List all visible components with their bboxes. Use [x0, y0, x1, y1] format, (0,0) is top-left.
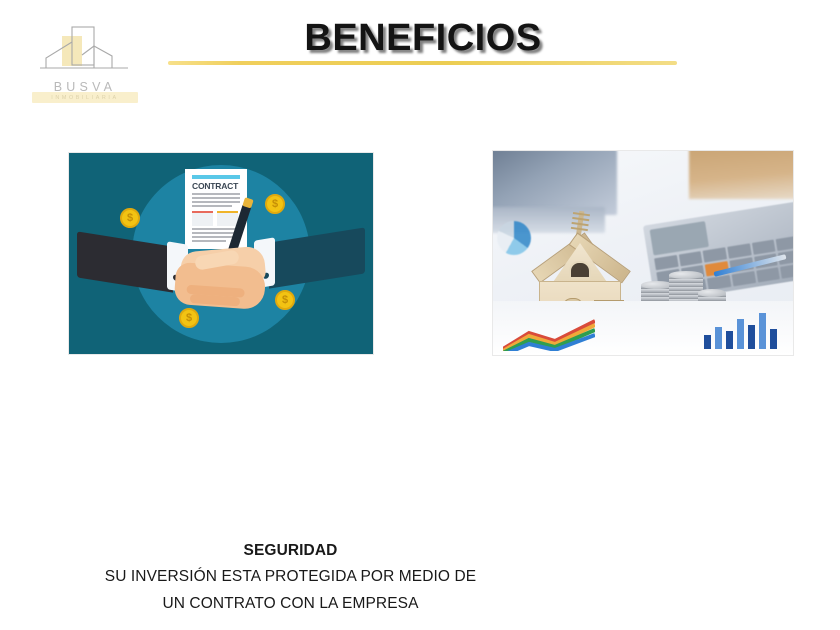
calculator-key	[703, 247, 727, 262]
slide-canvas: BUSVA INMOBILIARIA BENEFICIOS $ $ $ $ CO…	[0, 0, 840, 630]
line-chart-graphic	[503, 319, 595, 351]
contract-text-line	[192, 197, 240, 199]
page-title: BENEFICIOS	[168, 16, 678, 60]
model-house-coins-calculator-photo	[492, 150, 794, 356]
dollar-coin-icon: $	[275, 290, 295, 310]
calculator-key	[780, 263, 794, 278]
contract-text-line	[192, 205, 232, 207]
calculator-key	[776, 236, 794, 251]
attic-window	[569, 261, 591, 279]
handshake-hand-front	[174, 262, 267, 310]
caption-seguridad: SEGURIDAD SU INVERSIÓN ESTA PROTEGIDA PO…	[98, 538, 483, 617]
contract-text-line	[192, 193, 240, 195]
calculator-key	[752, 240, 776, 255]
laptop-keyboard	[492, 150, 617, 215]
bar-chart-graphic	[704, 309, 777, 349]
contract-field-box	[192, 211, 213, 226]
calculator-key	[654, 255, 678, 270]
benefit-card-ahorro: AHORRO PRECIOS MUY POR DE BAJO DEL VALOR…	[492, 150, 794, 356]
dollar-coin-icon: $	[265, 194, 285, 214]
benefit-card-seguridad: $ $ $ $ CONTRACT	[68, 152, 374, 355]
contract-label: CONTRACT	[192, 181, 240, 191]
coin-top-face	[698, 289, 726, 297]
dollar-coin-icon: $	[179, 308, 199, 328]
calculator-key	[678, 251, 702, 266]
chart-paper	[493, 301, 793, 355]
calculator-key	[756, 267, 780, 282]
title-underline-rule	[168, 61, 677, 65]
coin-top-face	[669, 271, 703, 279]
calculator-key	[707, 275, 731, 290]
contract-text-line	[192, 240, 226, 242]
wooden-desk-strip	[689, 150, 794, 199]
calculator-key	[732, 271, 756, 286]
pie-chart-on-paper	[497, 221, 531, 255]
caption-heading: SEGURIDAD	[98, 538, 483, 563]
busva-logo: BUSVA INMOBILIARIA	[26, 24, 144, 108]
building-mark-icon	[36, 24, 134, 80]
caption-body: SU INVERSIÓN ESTA PROTEGIDA POR MEDIO DE…	[98, 563, 483, 617]
calculator-key	[727, 243, 751, 258]
logo-subtitle: INMOBILIARIA	[26, 94, 144, 102]
contract-text-line	[192, 228, 240, 230]
contract-accent-bar	[192, 175, 240, 179]
contract-text-line	[192, 201, 240, 203]
contract-field-box	[217, 211, 238, 226]
handshake-contract-illustration: $ $ $ $ CONTRACT	[68, 152, 374, 355]
dollar-coin-icon: $	[120, 208, 140, 228]
